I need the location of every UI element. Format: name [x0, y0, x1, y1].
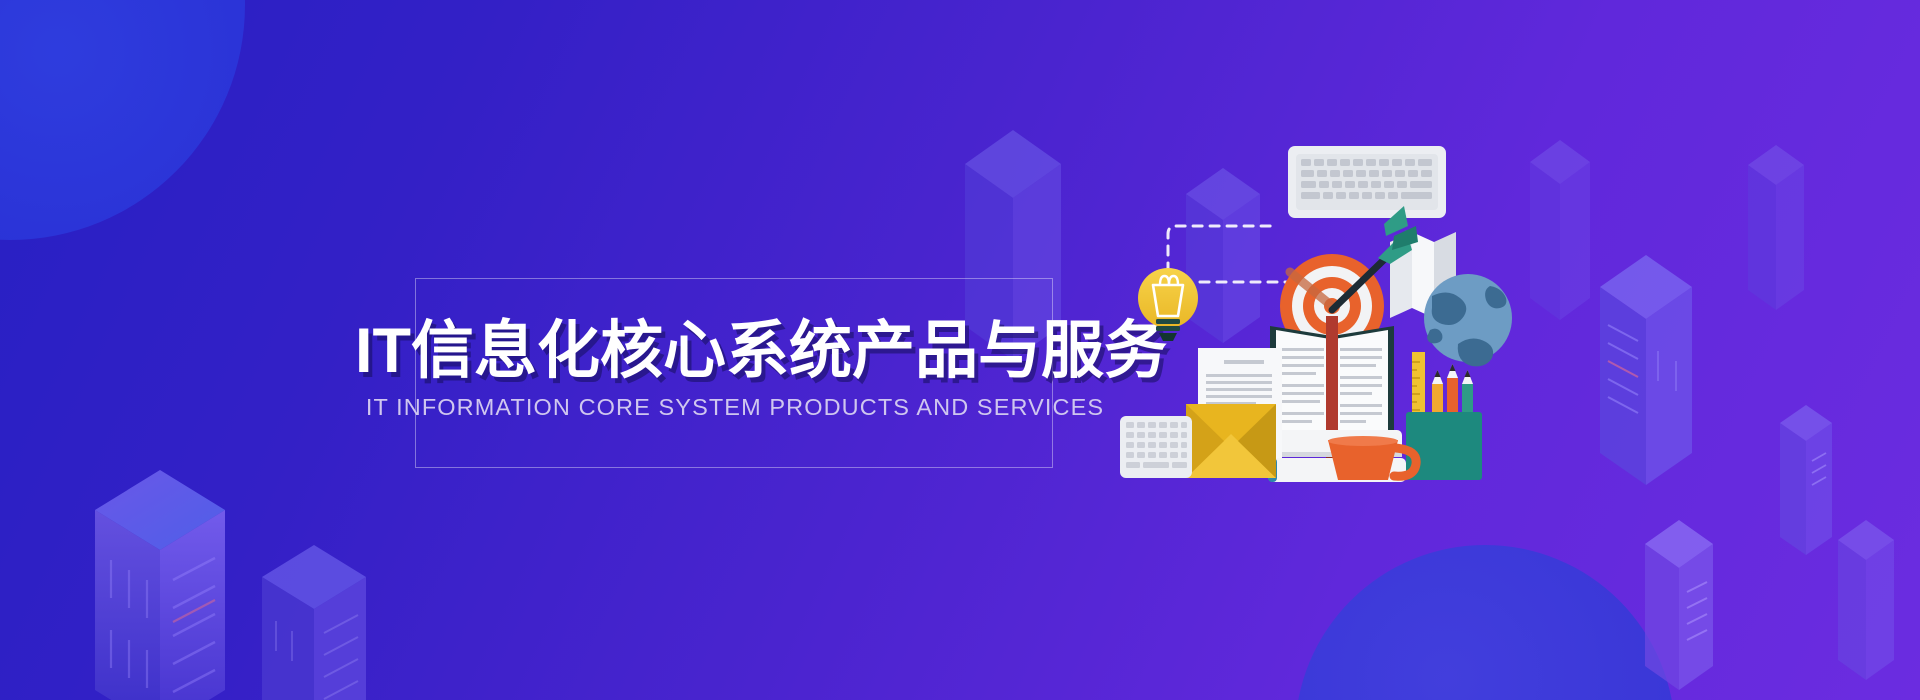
- isometric-tower: [1645, 520, 1745, 690]
- coffee-mug-icon: [1328, 436, 1416, 480]
- keyboard-bottom-icon: [1120, 416, 1192, 478]
- isometric-tower: [1530, 140, 1620, 320]
- isometric-tower: [1838, 520, 1920, 680]
- lightbulb-icon: [1138, 268, 1198, 342]
- circle-top-left: [0, 0, 245, 240]
- hero-illustration: [1120, 130, 1540, 480]
- copy-block: IT信息化核心系统产品与服务 IT INFORMATION CORE SYSTE…: [355, 318, 1115, 421]
- hero-banner: IT信息化核心系统产品与服务 IT INFORMATION CORE SYSTE…: [0, 0, 1920, 700]
- globe-icon: [1424, 274, 1512, 366]
- isometric-tower: [95, 470, 285, 700]
- circle-bottom-center: [1295, 545, 1675, 700]
- isometric-tower: [1600, 255, 1740, 485]
- keyboard-top-icon: [1288, 146, 1446, 218]
- envelope-icon: [1186, 404, 1276, 478]
- page-title: IT信息化核心系统产品与服务: [355, 318, 1115, 384]
- page-subtitle: IT INFORMATION CORE SYSTEM PRODUCTS AND …: [355, 394, 1115, 421]
- isometric-tower: [1748, 145, 1833, 310]
- isometric-tower: [262, 545, 412, 700]
